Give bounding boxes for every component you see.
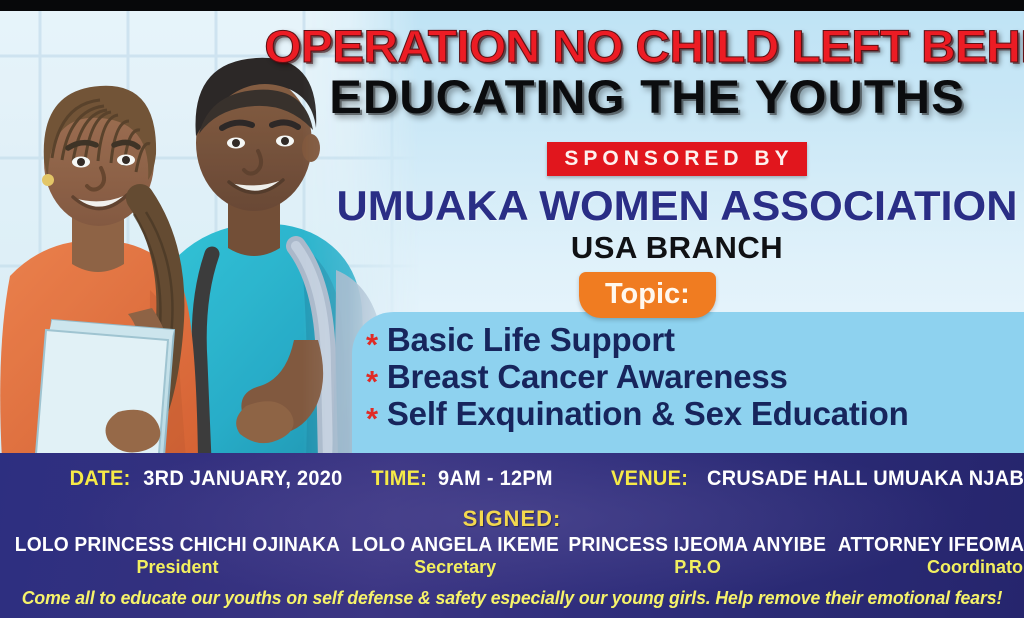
event-details-row: DATE: 3RD JANUARY, 2020 TIME: 9AM - 12PM… xyxy=(0,465,1024,493)
topic-list: * Basic Life Support * Breast Cancer Awa… xyxy=(366,322,1024,433)
asterisk-icon: * xyxy=(366,364,378,400)
signatory: PRINCESS IJEOMA ANYIBE P.R.O xyxy=(563,534,832,578)
signed-heading: SIGNED: xyxy=(0,508,1024,530)
detail-value: CRUSADE HALL UMUAKA NJABA LGA xyxy=(707,467,1024,491)
headline-block: OPERATION NO CHILD LEFT BEHIND EDUCATING… xyxy=(286,24,1008,122)
signatory-role: Coordinator xyxy=(832,557,1024,578)
detail-value: 9AM - 12PM xyxy=(438,467,553,491)
signatory: LOLO PRINCESS CHICHI OJINAKA President xyxy=(8,534,347,578)
sponsored-by-badge: SPONSORED BY xyxy=(547,142,806,176)
tagline: Come all to educate our youths on self d… xyxy=(10,588,1014,608)
signatory: ATTORNEY IFEOMA G. IHESIE Coordinator xyxy=(832,534,1024,578)
signatory-role: President xyxy=(8,557,347,578)
detail-value: 3RD JANUARY, 2020 xyxy=(143,467,342,491)
signatory-role: P.R.O xyxy=(563,557,832,578)
topic-item-label: Breast Cancer Awareness xyxy=(387,359,788,395)
detail-date: DATE: 3RD JANUARY, 2020 xyxy=(68,467,348,491)
topic-heading: Topic: xyxy=(579,272,716,318)
signatory-name: ATTORNEY IFEOMA G. IHESIE xyxy=(838,534,1024,556)
sponsor-block: SPONSORED BY UMUAKA WOMEN ASSOCIATION US… xyxy=(330,142,1024,264)
topic-item-label: Basic Life Support xyxy=(387,322,675,358)
headline-primary: OPERATION NO CHILD LEFT BEHIND xyxy=(264,24,1024,70)
signatory-name: LOLO ANGELA IKEME xyxy=(351,534,559,556)
signatory-role: Secretary xyxy=(347,557,563,578)
sponsor-organization: UMUAKA WOMEN ASSOCIATION xyxy=(320,184,1024,228)
headline-secondary: EDUCATING THE YOUTHS xyxy=(272,72,1023,122)
detail-label: TIME: xyxy=(371,467,427,491)
topic-item: * Basic Life Support xyxy=(366,322,1024,359)
topic-item-label: Self Exquination & Sex Education xyxy=(387,396,909,432)
detail-label: VENUE: xyxy=(611,467,688,491)
top-black-strip xyxy=(0,0,1024,11)
asterisk-icon: * xyxy=(366,401,378,437)
event-flyer: OPERATION NO CHILD LEFT BEHIND EDUCATING… xyxy=(0,0,1024,618)
signatory-name: LOLO PRINCESS CHICHI OJINAKA xyxy=(15,534,340,556)
detail-time: TIME: 9AM - 12PM xyxy=(370,467,556,491)
detail-label: DATE: xyxy=(70,467,131,491)
signatory: LOLO ANGELA IKEME Secretary xyxy=(347,534,563,578)
topic-item: * Self Exquination & Sex Education xyxy=(366,396,1024,433)
asterisk-icon: * xyxy=(366,327,378,363)
detail-venue: VENUE: CRUSADE HALL UMUAKA NJABA LGA xyxy=(609,467,1024,491)
signatory-name: PRINCESS IJEOMA ANYIBE xyxy=(569,534,827,556)
sponsor-branch: USA BRANCH xyxy=(330,231,1024,264)
signatories-row: LOLO PRINCESS CHICHI OJINAKA President L… xyxy=(8,534,1016,578)
topic-item: * Breast Cancer Awareness xyxy=(366,359,1024,396)
